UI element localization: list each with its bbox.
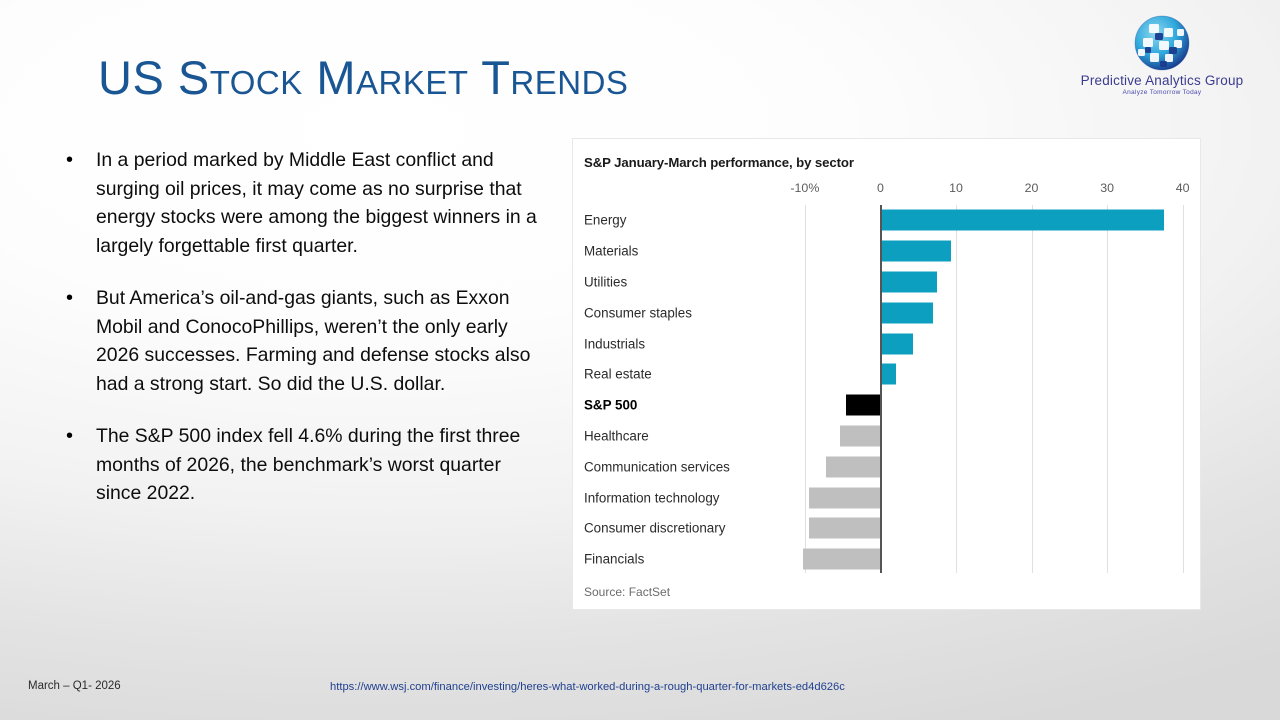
chart-category-label: Industrials [584,336,645,351]
x-axis-tick-label: 20 [1025,181,1039,195]
chart-bar-row: Materials [580,236,1194,267]
chart-bar-row: Communication services [580,451,1194,482]
chart-category-label: Materials [584,244,638,259]
chart-category-label: Communication services [584,459,730,474]
chart-bar [840,425,881,446]
chart-bar-row: Utilities [580,267,1194,298]
chart-bar-row: Consumer staples [580,297,1194,328]
logo-tagline: Analyze Tomorrow Today [1078,89,1246,96]
chart-category-label: Information technology [584,490,719,505]
x-axis-tick-label: 30 [1100,181,1114,195]
chart-category-label: Consumer staples [584,305,692,320]
chart-bar-row: Information technology [580,482,1194,513]
chart-category-label: S&P 500 [584,398,637,413]
page-title: US Stock Market Trends [98,50,628,105]
chart-category-label: Consumer discretionary [584,521,725,536]
bullet-marker: • [66,422,96,508]
footer-date: March – Q1- 2026 [28,680,121,692]
chart-category-label: Utilities [584,274,627,289]
chart-bar [846,395,881,416]
chart-bar [880,333,912,354]
list-item: • In a period marked by Middle East conf… [66,146,548,260]
bullet-marker: • [66,284,96,398]
x-axis-tick-label: 0 [877,181,884,195]
chart-bars-container: EnergyMaterialsUtilitiesConsumer staples… [580,205,1194,573]
chart-category-label: Energy [584,213,626,228]
chart-bar [880,302,933,323]
chart-bar-row: Industrials [580,328,1194,359]
chart-bar-row: Real estate [580,359,1194,390]
chart-bar [826,456,880,477]
list-item: • The S&P 500 index fell 4.6% during the… [66,422,548,508]
chart-bar [809,487,880,508]
list-item: • But America’s oil-and-gas giants, such… [66,284,548,398]
chart-bar [880,364,895,385]
puzzle-globe-icon [1119,14,1205,72]
chart-bar-row: Financials [580,544,1194,575]
footer-source-link[interactable]: https://www.wsj.com/finance/investing/he… [330,681,845,693]
chart-bar [880,210,1163,231]
chart-plot-area: -10%010203040 EnergyMaterialsUtilitiesCo… [580,181,1194,573]
chart-bar-row: Consumer discretionary [580,513,1194,544]
chart-category-label: Healthcare [584,428,649,443]
bullet-list: • In a period marked by Middle East conf… [66,146,548,532]
chart-title: S&P January-March performance, by sector [584,155,854,170]
x-axis-tick-label: 10 [949,181,963,195]
x-axis-tick-label: 40 [1176,181,1190,195]
slide-canvas: US Stock Market Trends [0,0,1280,720]
logo-company-name: Predictive Analytics Group [1078,73,1246,88]
chart-bar [880,271,937,292]
chart-bar-row: S&P 500 [580,390,1194,421]
chart-bar-row: Healthcare [580,421,1194,452]
chart-panel: S&P January-March performance, by sector… [572,138,1201,610]
bullet-text: But America’s oil-and-gas giants, such a… [96,284,548,398]
company-logo: Predictive Analytics Group Analyze Tomor… [1078,14,1246,102]
chart-zero-axis [880,205,881,573]
bullet-marker: • [66,146,96,260]
x-axis-tick-label: -10% [790,181,819,195]
bullet-text: The S&P 500 index fell 4.6% during the f… [96,422,548,508]
chart-bar [803,549,880,570]
chart-bar-row: Energy [580,205,1194,236]
bullet-text: In a period marked by Middle East confli… [96,146,548,260]
chart-source-note: Source: FactSet [584,585,670,599]
chart-category-label: Financials [584,552,644,567]
x-axis-tick-labels: -10%010203040 [580,181,1194,203]
chart-category-label: Real estate [584,367,652,382]
chart-bar [880,241,950,262]
chart-bar [809,518,881,539]
